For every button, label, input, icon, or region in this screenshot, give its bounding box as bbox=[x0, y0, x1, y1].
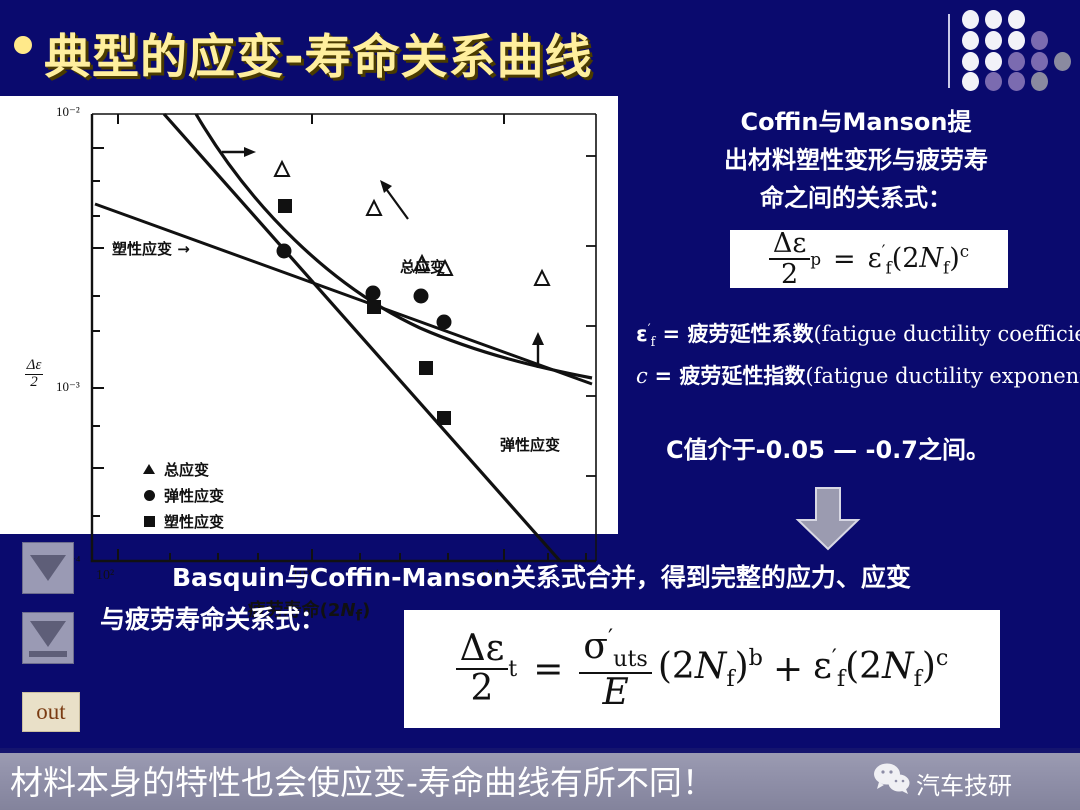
dot bbox=[985, 52, 1002, 71]
coffin-manson-formula: Δε2p = ε′f(2Nf)c bbox=[769, 230, 969, 288]
legend-label: 弹性应变 bbox=[164, 485, 224, 506]
down-triangle-icon bbox=[30, 555, 66, 581]
page-title: 典型的应变-寿命关系曲线 bbox=[44, 18, 593, 87]
dot bbox=[1008, 72, 1025, 91]
right-paragraph-line-2: 出材料塑性变形与疲劳寿 bbox=[636, 140, 1076, 175]
c-value-note: C值介于-0.05 — -0.7之间。 bbox=[666, 430, 990, 465]
dot bbox=[1031, 31, 1048, 50]
title-divider bbox=[948, 14, 950, 88]
out-button[interactable]: out bbox=[22, 692, 80, 732]
middle-line-2: 与疲劳寿命关系式： bbox=[100, 600, 325, 636]
total-strain-formula: Δε2t = σ′uts E (2Nf)b + ε′f(2Nf)c bbox=[456, 627, 949, 711]
banner-brand: 汽车技研 bbox=[916, 766, 1012, 801]
right-paragraph-line-1: Coffin与Manson提 bbox=[636, 102, 1076, 137]
dot-grid-decoration bbox=[962, 10, 1074, 86]
title-bullet-icon bbox=[14, 36, 32, 54]
dot bbox=[1031, 52, 1048, 71]
down-triangle-icon bbox=[30, 621, 66, 647]
circle-marker-icon bbox=[140, 490, 158, 501]
annotation-elastic-strain: 弹性应变 bbox=[500, 434, 560, 455]
end-bar-icon bbox=[29, 651, 67, 657]
elastic-strain-line bbox=[95, 204, 592, 384]
dot bbox=[1008, 52, 1025, 71]
coffin-manson-formula-box: Δε2p = ε′f(2Nf)c bbox=[730, 230, 1008, 288]
wechat-icon bbox=[872, 762, 910, 794]
definition-epsilon-f: ε′f = 疲劳延性系数(fatigue ductility coefficie… bbox=[636, 318, 1080, 349]
banner-text: 材料本身的特性也会使应变-寿命曲线有所不同！ bbox=[10, 756, 715, 804]
slide-title-bar: 典型的应变-寿命关系曲线 bbox=[0, 6, 1080, 90]
dot bbox=[1031, 72, 1048, 91]
legend-label: 总应变 bbox=[164, 459, 209, 480]
bottom-banner: 材料本身的特性也会使应变-寿命曲线有所不同！ 汽车技研 bbox=[0, 748, 1080, 810]
dot bbox=[1008, 10, 1025, 29]
banner-top-rule bbox=[0, 748, 1080, 753]
dot bbox=[962, 31, 979, 50]
down-arrow-icon bbox=[792, 486, 864, 552]
dot bbox=[1008, 31, 1025, 50]
definition-c: c = 疲劳延性指数(fatigue ductility exponent) bbox=[636, 360, 1080, 390]
plastic-strain-points bbox=[278, 199, 451, 425]
dot bbox=[962, 10, 979, 29]
triangle-marker-icon bbox=[140, 464, 158, 474]
square-marker-icon bbox=[140, 516, 158, 527]
chart-plot-area bbox=[0, 96, 618, 566]
dot bbox=[985, 10, 1002, 29]
annotation-plastic-strain: 塑性应变 → bbox=[112, 238, 190, 259]
dot bbox=[962, 52, 979, 71]
legend-item-total: 总应变 bbox=[140, 456, 224, 482]
strain-life-chart: Δε2 10⁻² 10⁻³ 10⁻⁴ 10² 10³ 10⁴ bbox=[0, 96, 618, 534]
slide-root: 典型的应变-寿命关系曲线 Δε2 10⁻² 10⁻³ 10⁻⁴ bbox=[0, 0, 1080, 810]
jump-to-end-button[interactable] bbox=[22, 612, 74, 664]
dot bbox=[985, 72, 1002, 91]
chart-legend: 总应变 弹性应变 塑性应变 bbox=[140, 456, 224, 534]
scroll-down-button[interactable] bbox=[22, 542, 74, 594]
legend-item-elastic: 弹性应变 bbox=[140, 482, 224, 508]
total-strain-formula-box: Δε2t = σ′uts E (2Nf)b + ε′f(2Nf)c bbox=[404, 610, 1000, 728]
middle-line-1: Basquin与Coffin-Manson关系式合并，得到完整的应力、应变 bbox=[172, 558, 911, 594]
annotation-total-strain: 总应变 bbox=[400, 256, 445, 277]
dot bbox=[1054, 52, 1071, 71]
dot bbox=[962, 72, 979, 91]
dot bbox=[985, 31, 1002, 50]
right-paragraph-line-3: 命之间的关系式： bbox=[636, 178, 1076, 213]
legend-item-plastic: 塑性应变 bbox=[140, 508, 224, 534]
total-strain-line bbox=[196, 114, 592, 378]
out-button-label: out bbox=[36, 699, 65, 725]
legend-label: 塑性应变 bbox=[164, 511, 224, 532]
x-tick-label: 10² bbox=[96, 568, 114, 584]
